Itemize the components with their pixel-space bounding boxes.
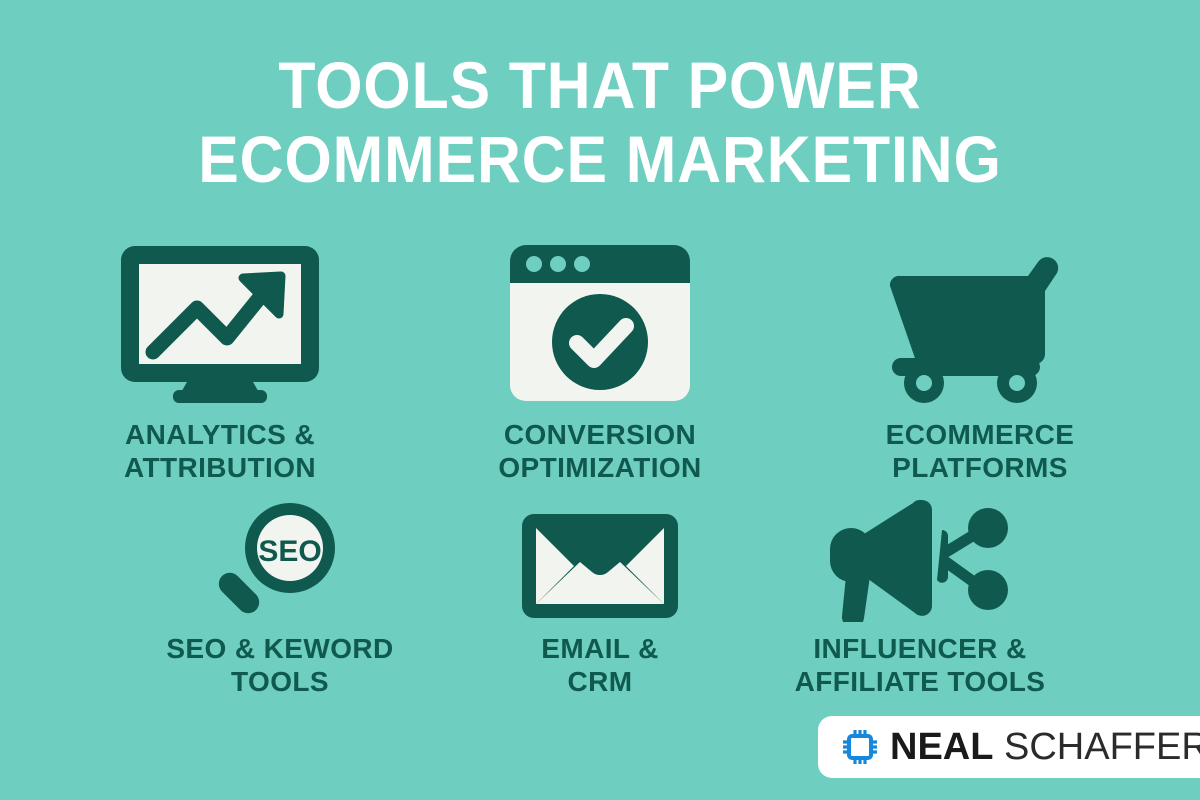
tool-item-seo[interactable]: SEO SEO & KEWORD TOOLS [120, 490, 440, 722]
infographic-canvas: TOOLS THAT POWER ECOMMERCE MARKETING [0, 0, 1200, 800]
browser-dot-1 [526, 256, 542, 272]
tool-item-analytics[interactable]: ANALYTICS & ATTRIBUTION [30, 228, 410, 490]
tool-item-conversion[interactable]: CONVERSION OPTIMIZATION [410, 228, 790, 490]
browser-dot-3 [574, 256, 590, 272]
brand-first-name: NEAL [890, 726, 993, 768]
title-line-2: ECOMMERCE MARKETING [48, 122, 1152, 196]
brand-last-name: SCHAFFER [993, 726, 1200, 768]
megaphone-share-icon [822, 494, 1018, 622]
monitor-trending-up-icon [115, 242, 325, 404]
shopping-cart-icon [880, 254, 1080, 404]
page-title: TOOLS THAT POWER ECOMMERCE MARKETING [0, 48, 1200, 196]
tool-item-influencer[interactable]: INFLUENCER & AFFILIATE TOOLS [760, 490, 1080, 722]
tool-label-influencer: INFLUENCER & AFFILIATE TOOLS [795, 632, 1046, 698]
monitor-trending-up-icon-wrap [115, 228, 325, 404]
browser-window-checkmark-icon [507, 242, 693, 404]
browser-window-checkmark-icon-wrap [507, 228, 693, 404]
magnifier-seo-icon-wrap: SEO [207, 490, 353, 622]
tools-row-1: ANALYTICS & ATTRIBUTION CONVERSION OPTI [0, 228, 1200, 490]
tool-label-analytics: ANALYTICS & ATTRIBUTION [124, 418, 316, 484]
shopping-cart-icon-wrap [880, 228, 1080, 404]
microchip-icon [840, 727, 880, 767]
seo-icon-text: SEO [258, 535, 321, 568]
title-line-1: TOOLS THAT POWER [48, 48, 1152, 122]
tools-row-2: SEO SEO & KEWORD TOOLS EMAIL & CRM [0, 490, 1200, 722]
share-node-bottom [968, 570, 1008, 610]
tool-label-conversion: CONVERSION OPTIMIZATION [498, 418, 701, 484]
browser-dot-2 [550, 256, 566, 272]
tool-label-seo: SEO & KEWORD TOOLS [166, 632, 393, 698]
tool-label-ecommerce: ECOMMERCE PLATFORMS [886, 418, 1075, 484]
envelope-icon-wrap [520, 490, 680, 622]
brand-logo-text: NEAL SCHAFFER [890, 727, 1200, 767]
tool-label-email: EMAIL & CRM [541, 632, 658, 698]
megaphone-share-icon-wrap [822, 490, 1018, 622]
envelope-icon [520, 510, 680, 622]
tool-item-ecommerce[interactable]: ECOMMERCE PLATFORMS [790, 228, 1170, 490]
tools-grid: ANALYTICS & ATTRIBUTION CONVERSION OPTI [0, 228, 1200, 722]
brand-logo-badge[interactable]: NEAL SCHAFFER [818, 716, 1200, 778]
magnifier-seo-icon: SEO [207, 496, 353, 622]
tool-item-email[interactable]: EMAIL & CRM [440, 490, 760, 722]
share-node-top [968, 508, 1008, 548]
